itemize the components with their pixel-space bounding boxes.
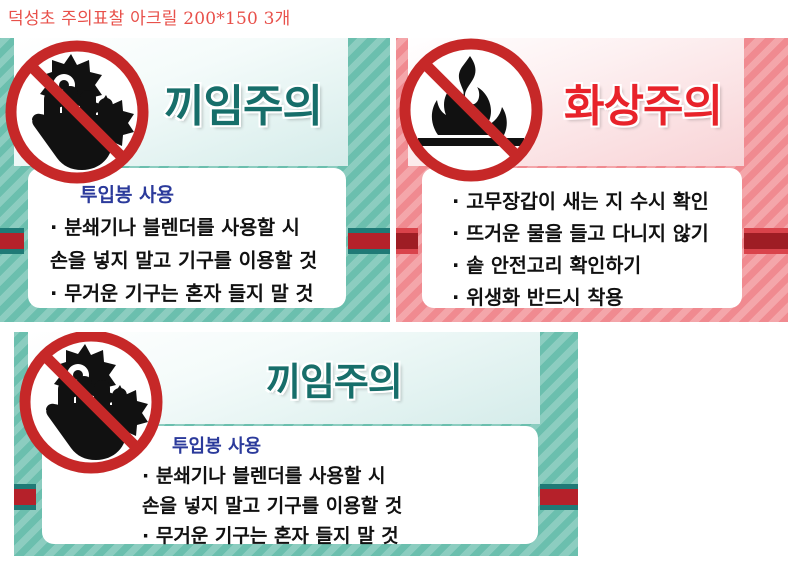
no-pinch-hand-gears-icon xyxy=(16,332,166,478)
bullet-line: · 솥 안전고리 확인하기 xyxy=(452,249,742,278)
accent-chip xyxy=(744,228,788,254)
page-title: 덕성초 주의표찰 아크릴 200*150 3개 xyxy=(8,4,290,29)
card-body: · 고무장갑이 새는 지 수시 확인 · 뜨거운 물을 들고 다니지 않기 · … xyxy=(422,168,742,308)
no-pinch-hand-gears-icon xyxy=(2,38,152,188)
card-headline: 화상주의 xyxy=(564,70,722,134)
bullet-line: · 고무장갑이 새는 지 수시 확인 xyxy=(452,185,742,214)
no-fire-burn-icon xyxy=(396,38,546,186)
bullet-line: · 뜨거운 물을 들고 다니지 않기 xyxy=(452,217,742,246)
accent-chip xyxy=(0,228,24,254)
card-subtitle: 투입봉 사용 xyxy=(172,432,538,458)
bullet-line: 손을 넣지 말고 기구를 이용할 것 xyxy=(142,491,538,518)
warning-card-pinch-small: 끼임주의 투입봉 사용 · 분쇄기나 블렌더를 사용할 시 손을 넣지 말고 기… xyxy=(0,38,390,322)
warning-card-burn: 화상주의 · 고무장갑이 새는 지 수시 확인 · 뜨거운 물을 들고 다니지 … xyxy=(396,38,788,322)
bullet-line: · 무거운 기구는 혼자 들지 말 것 xyxy=(50,277,346,306)
bullet-line: 손을 넣지 말고 기구를 이용할 것 xyxy=(50,244,346,273)
card-body: 투입봉 사용 · 분쇄기나 블렌더를 사용할 시 손을 넣지 말고 기구를 이용… xyxy=(28,168,346,308)
accent-chip xyxy=(348,228,390,254)
card-headline: 끼임주의 xyxy=(266,351,402,406)
warning-card-pinch-wide: 끼임주의 투입봉 사용 · 분쇄기나 블렌더를 사용할 시 손을 넣지 말고 기… xyxy=(14,332,578,556)
right-accent-strip xyxy=(540,332,578,556)
bullet-line: · 위생화 반드시 착용 xyxy=(452,281,742,310)
bullet-line: · 무거운 기구는 혼자 들지 말 것 xyxy=(142,521,538,548)
bullet-line: · 분쇄기나 블렌더를 사용할 시 xyxy=(142,461,538,488)
accent-chip xyxy=(396,228,418,254)
card-headline: 끼임주의 xyxy=(164,70,322,134)
bullet-line: · 분쇄기나 블렌더를 사용할 시 xyxy=(50,211,346,240)
accent-chip xyxy=(14,484,36,510)
accent-chip xyxy=(540,484,578,510)
right-accent-strip xyxy=(744,38,788,322)
right-accent-strip xyxy=(348,38,390,322)
